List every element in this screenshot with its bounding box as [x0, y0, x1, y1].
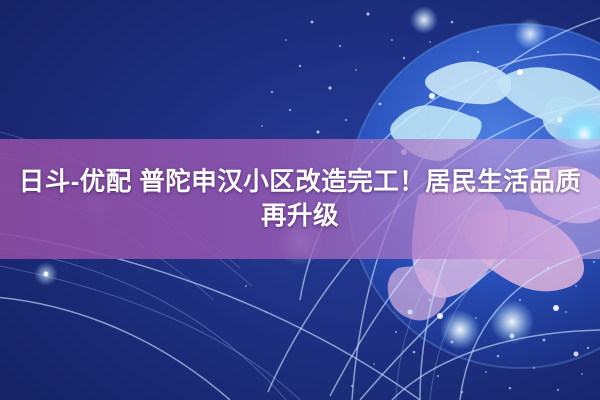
title-banner: 日斗-优配 普陀申汉小区改造完工！居民生活品质 再升级 [0, 139, 600, 259]
headline-line-1: 日斗-优配 普陀申汉小区改造完工！居民生活品质 [19, 165, 582, 199]
cover-image: 日斗-优配 普陀申汉小区改造完工！居民生活品质 再升级 [0, 0, 600, 400]
headline-line-2: 再升级 [261, 199, 339, 233]
